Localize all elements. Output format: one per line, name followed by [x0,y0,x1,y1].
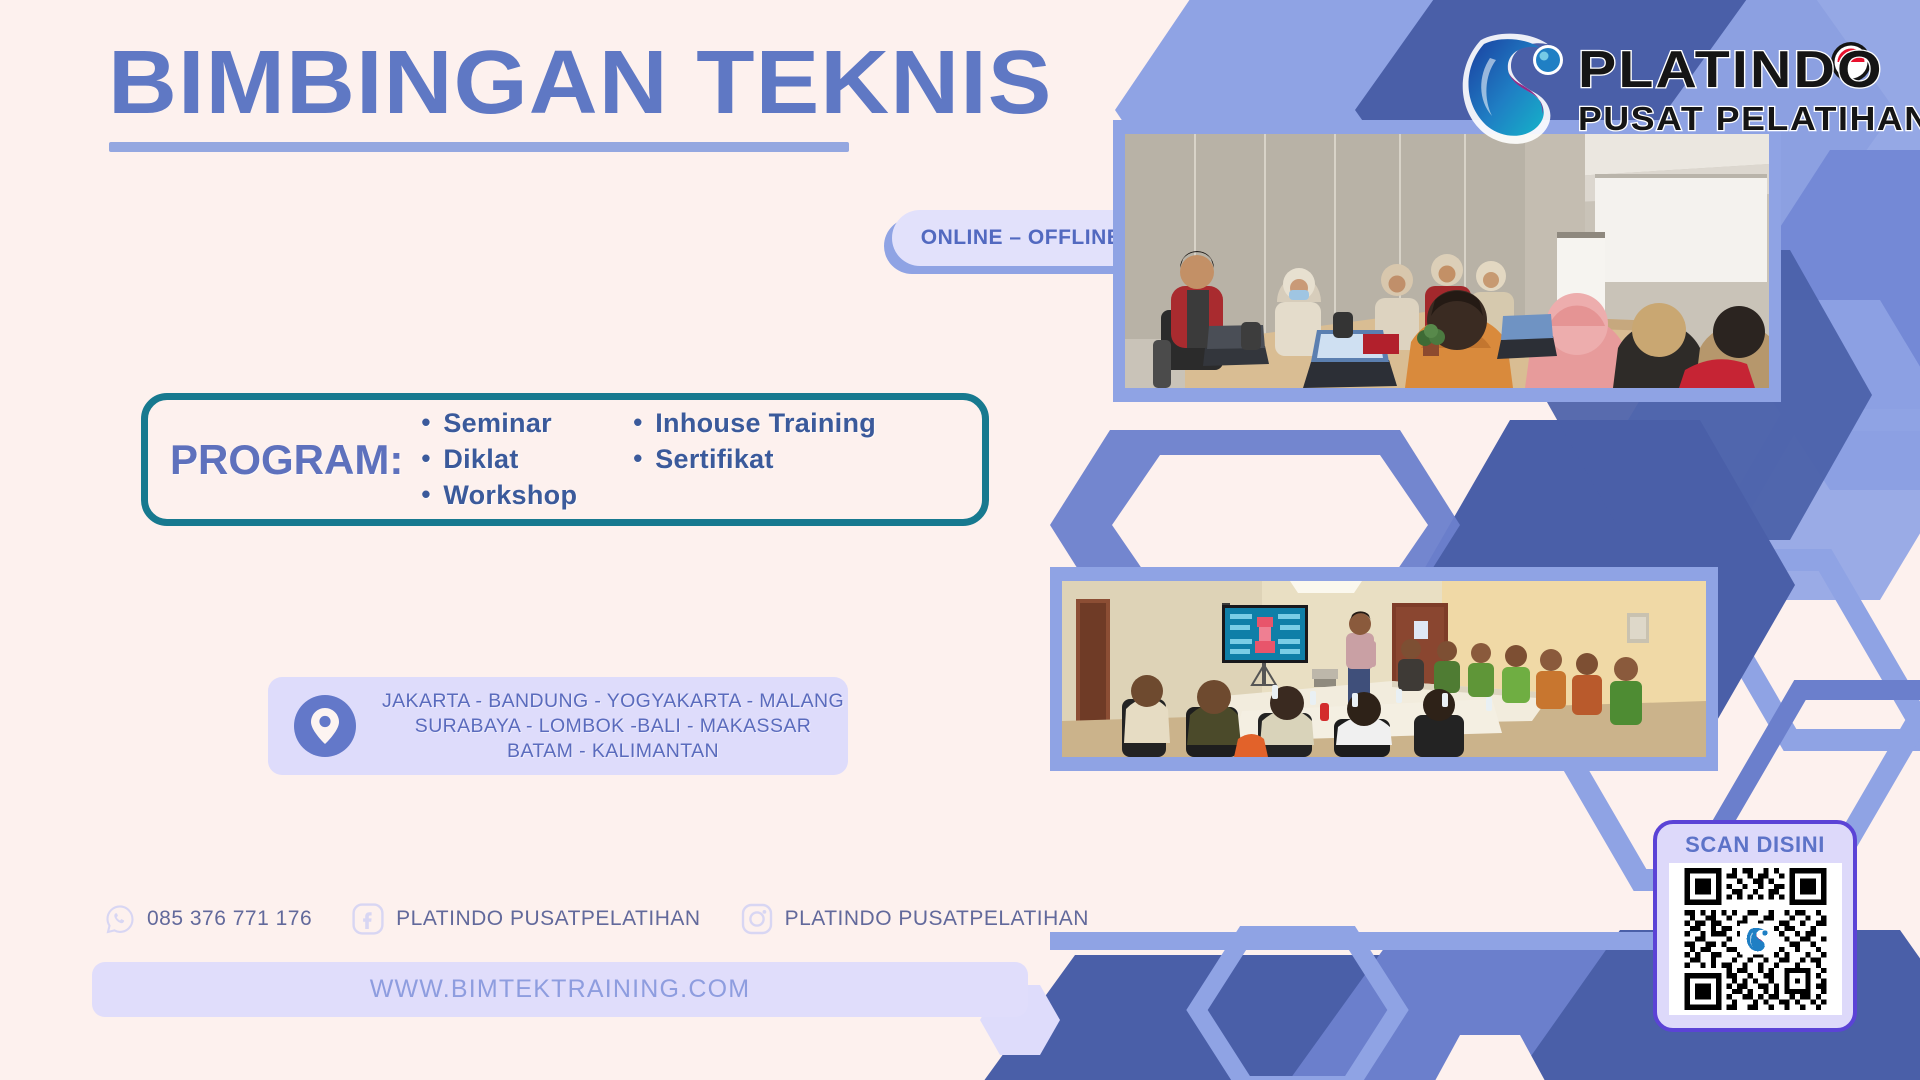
mode-badge-label: ONLINE – OFFLINE [921,226,1122,250]
brand-tagline: PUSAT PELATIHAN [1578,102,1920,135]
website-url: WWW.BIMTEKTRAINING.COM [370,975,751,1004]
hex-shape [1430,1035,1550,1080]
seminar-room-photo-frame [1050,567,1718,771]
location-line: BATAM - KALIMANTAN [507,740,719,763]
program-column-1: Seminar Diklat Workshop [421,408,577,511]
map-pin-icon [294,695,356,757]
location-line: SURABAYA - LOMBOK -BALI - MAKASSAR [415,715,811,738]
website-bar[interactable]: WWW.BIMTEKTRAINING.COM [92,962,1028,1017]
poster-canvas: BIMBINGAN TEKNIS ONLINE – OFFLINE PROGRA… [0,0,1920,1080]
hex-outline-shape [1697,420,1920,740]
title-underline-rule [109,142,849,152]
contact-instagram-value: PLATINDO PUSATPELATIHAN [785,907,1089,931]
map-pin-glyph [310,707,340,745]
mode-badge[interactable]: ONLINE – OFFLINE [892,210,1150,266]
locations-card: JAKARTA - BANDUNG - YOGYAKARTA - MALANG … [268,677,848,775]
contact-facebook-value: PLATINDO PUSATPELATIHAN [396,907,700,931]
program-item: Sertifikat [633,444,876,475]
hex-shape [970,955,1560,1080]
seminar-room-illustration [1062,581,1706,757]
program-columns: Seminar Diklat Workshop Inhouse Training… [421,408,876,511]
facebook-icon [352,903,384,935]
contact-facebook[interactable]: PLATINDO PUSATPELATIHAN [352,903,700,935]
contact-instagram[interactable]: PLATINDO PUSATPELATIHAN [741,903,1089,935]
brand-logo: PLATINDO PUSAT PELATIHAN [1450,28,1910,146]
training-room-photo-frame [1113,120,1781,402]
qr-scan-label: SCAN DISINI [1685,832,1825,858]
program-item: Seminar [421,408,577,439]
program-panel: PROGRAM: Seminar Diklat Workshop Inhouse… [141,393,989,526]
locations-list: JAKARTA - BANDUNG - YOGYAKARTA - MALANG … [382,690,844,763]
training-room-illustration [1125,134,1769,388]
page-title: BIMBINGAN TEKNIS [108,38,1083,128]
page-title-block: BIMBINGAN TEKNIS [108,38,1028,152]
qr-code-matrix [1669,863,1842,1015]
hex-outline-shape [1197,935,1398,1080]
qr-code[interactable] [1669,863,1842,1015]
program-label: PROGRAM: [170,436,403,484]
platindo-swoosh-icon [1450,30,1580,148]
whatsapp-icon [105,904,135,934]
location-line: JAKARTA - BANDUNG - YOGYAKARTA - MALANG [382,690,844,713]
accent-band [1050,932,1750,950]
contact-whatsapp-value: 085 376 771 176 [147,907,312,931]
program-item: Workshop [421,480,577,511]
contact-row: 085 376 771 176 PLATINDO PUSATPELATIHAN … [105,897,1089,941]
brand-name: PLATINDO [1578,44,1884,96]
program-item: Inhouse Training [633,408,876,439]
contact-whatsapp[interactable]: 085 376 771 176 [105,904,312,934]
training-room-photo [1125,134,1769,388]
brand-logo-text: PLATINDO PUSAT PELATIHAN [1578,44,1905,135]
instagram-icon [741,903,773,935]
program-column-2: Inhouse Training Sertifikat [633,408,876,511]
program-item: Diklat [421,444,577,475]
seminar-room-photo [1062,581,1706,757]
qr-scan-panel[interactable]: SCAN DISINI [1653,820,1857,1032]
